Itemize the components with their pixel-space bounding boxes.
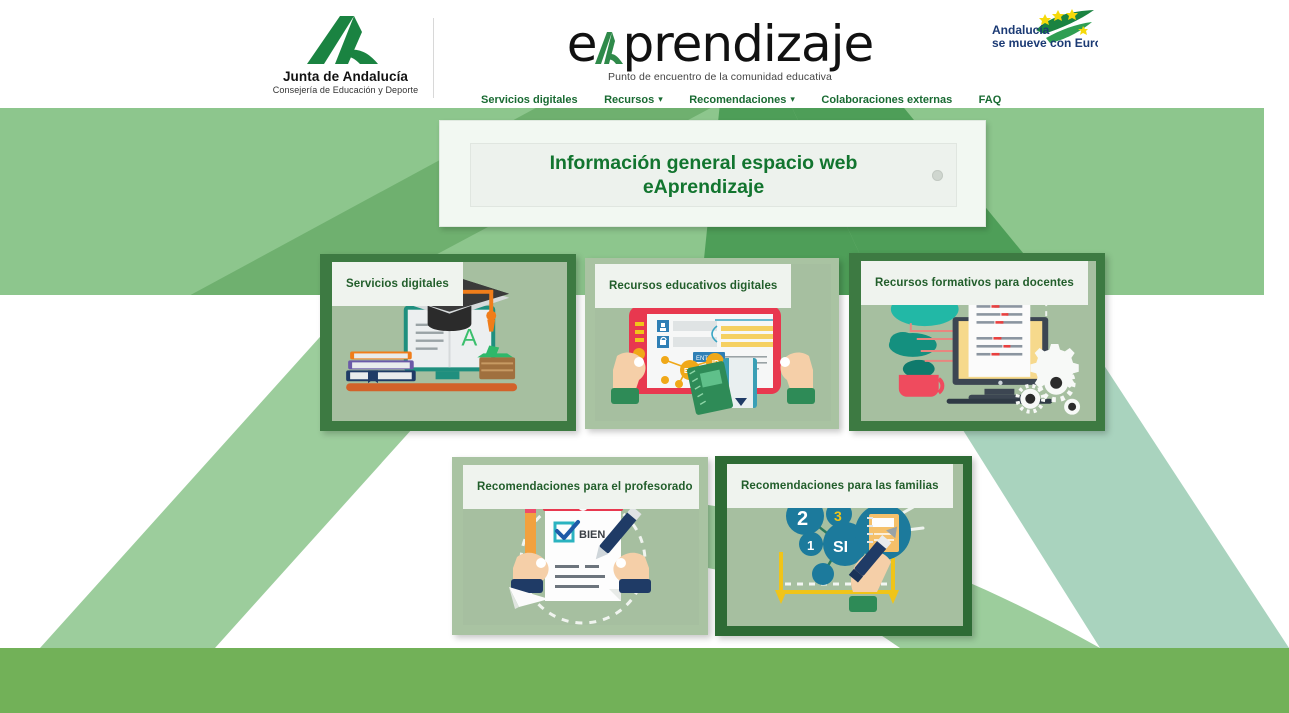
chevron-down-icon: ▾ [790, 94, 795, 105]
junta-title: Junta de Andalucía [283, 69, 408, 84]
andalucia-europa-icon: Andalucía se mueve con Europa [988, 8, 1098, 52]
nav-label: Servicios digitales [481, 94, 578, 106]
nav-item-recursos[interactable]: Recursos▾ [604, 94, 663, 106]
nav-label: Recursos [604, 94, 654, 106]
card-recursos-formativos-docentes[interactable]: Recursos formativos para docentes [849, 253, 1105, 431]
nav-item-faq[interactable]: FAQ [979, 94, 1002, 106]
junta-subtitle: Consejería de Educación y Deporte [273, 85, 418, 95]
wordmark-part1: e [567, 15, 597, 73]
nav-item-colaboraciones-externas[interactable]: Colaboraciones externas [821, 94, 952, 106]
junta-andalucia-logo[interactable]: Junta de Andalucía Consejería de Educaci… [258, 14, 433, 104]
chevron-down-icon: ▾ [658, 94, 663, 105]
card-recomendaciones-profesorado[interactable]: BIEN [452, 457, 708, 635]
nav-label: FAQ [979, 94, 1002, 106]
eaprendizaje-wordmark: e prendizaje [567, 18, 874, 70]
andalucia-a-icon [304, 14, 388, 66]
europa-line1: Andalucía [992, 23, 1050, 37]
card-title: Recomendaciones para las familias [741, 480, 939, 492]
card-title: Recomendaciones para el profesorado [477, 481, 693, 493]
accordion-toggle-button[interactable] [918, 170, 956, 181]
site-footer: UNIÓN EUROPEA Fondo Europeo de Desarroll… [0, 648, 1289, 713]
card-recursos-educativos-digitales[interactable]: ENTRAR EO ID [585, 258, 839, 429]
card-inner: Recursos formativos para docentes [861, 261, 1096, 421]
card-inner: ENTRAR EO ID [595, 264, 831, 421]
accordion-title: Información general espacio web eAprendi… [471, 151, 918, 199]
nav-item-recomendaciones[interactable]: Recomendaciones▾ [689, 94, 795, 106]
nav-item-servicios-digitales[interactable]: Servicios digitales [481, 94, 578, 106]
card-inner: BIEN [463, 465, 699, 625]
card-recomendaciones-familias[interactable]: 2 3 1 SI [715, 456, 972, 636]
site-header: Junta de Andalucía Consejería de Educaci… [0, 0, 1289, 108]
art-node-3: 3 [834, 508, 842, 524]
art-node-1: 1 [807, 538, 814, 553]
main-navigation: Servicios digitales Recursos▾ Recomendac… [470, 90, 970, 108]
page-root: Junta de Andalucía Consejería de Educaci… [0, 0, 1289, 713]
accordion-panel[interactable]: Información general espacio web eAprendi… [439, 120, 986, 227]
accordion-header[interactable]: Información general espacio web eAprendi… [470, 143, 957, 207]
wordmark-part2: prendizaje [622, 15, 873, 73]
art-bien-label: BIEN [579, 529, 605, 541]
card-title-bar: Recomendaciones para las familias [727, 464, 953, 508]
card-title: Recursos educativos digitales [609, 280, 777, 292]
card-title-bar: Recomendaciones para el profesorado [463, 465, 699, 509]
europa-line2: se mueve con Europa [992, 36, 1098, 50]
art-node-si: SI [833, 539, 848, 556]
nav-label: Colaboraciones externas [821, 94, 952, 106]
andalucia-europa-logo[interactable]: Andalucía se mueve con Europa [988, 8, 1098, 52]
card-title-bar: Servicios digitales [332, 262, 463, 306]
card-title: Recursos formativos para docentes [875, 277, 1074, 289]
card-title-bar: Recursos formativos para docentes [861, 261, 1088, 305]
card-servicios-digitales[interactable]: A [320, 254, 576, 431]
toggle-dot-icon [932, 170, 943, 181]
header-divider [433, 18, 434, 98]
card-inner: 2 3 1 SI [727, 464, 963, 626]
card-title: Servicios digitales [346, 278, 449, 290]
andalucia-a-icon [594, 31, 624, 65]
card-title-bar: Recursos educativos digitales [595, 264, 791, 308]
art-node-2: 2 [797, 508, 808, 530]
nav-label: Recomendaciones [689, 94, 786, 106]
card-inner: A [332, 262, 567, 421]
